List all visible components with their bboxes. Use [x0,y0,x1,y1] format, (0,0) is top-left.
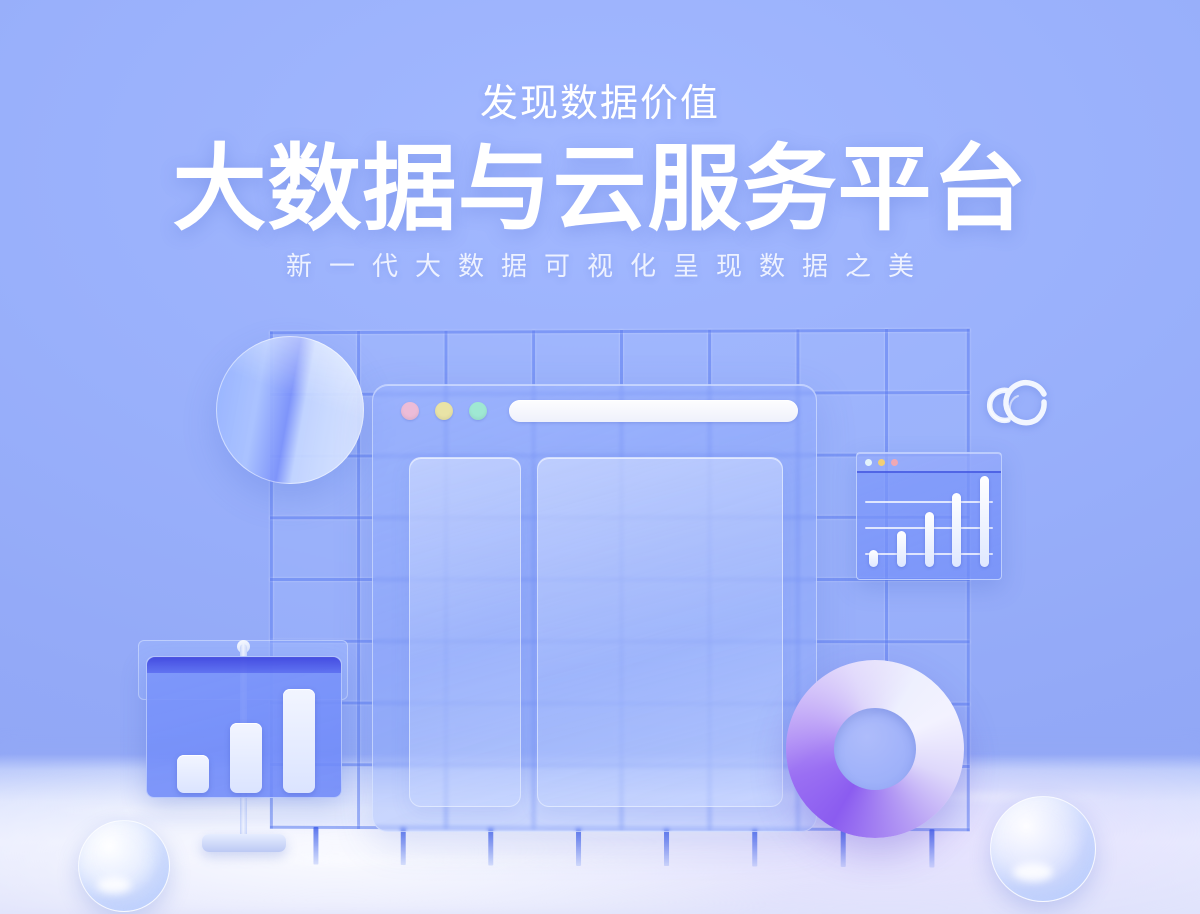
sidebar-panel[interactable] [409,457,521,807]
chart-bar [925,512,934,567]
page-title: 大数据与云服务平台 [0,140,1200,239]
chart-bar [980,476,989,567]
hero-eyebrow: 发现数据价值 [0,84,1200,126]
donut-chart-torus [786,660,964,838]
grid-foot [929,829,934,867]
chart-bars [869,483,989,567]
grid-foot [752,828,757,866]
address-bar-input[interactable] [509,400,798,422]
cloud-icon [978,368,1064,432]
grid-foot [401,827,406,865]
monitor-header-bar [147,657,341,673]
mini-chart-window[interactable] [856,452,1002,580]
glass-sphere-right [990,796,1096,902]
chart-bar [869,550,878,567]
chart-bars [167,683,325,793]
stand-base [202,834,286,852]
monitor-screen [146,656,342,798]
grid-foot [664,828,669,866]
close-dot[interactable] [865,459,872,466]
mini-window-title-bar [857,453,1001,473]
sphere-highlight [97,877,131,893]
chart-bar [177,755,209,793]
hero-banner: 发现数据价值 大数据与云服务平台 新一代大数据可视化呈现数据之美 [0,0,1200,914]
sphere-highlight [1013,863,1053,881]
chart-bar [230,723,262,793]
minimize-dot[interactable] [435,402,453,420]
chart-bar [897,531,906,567]
browser-mockup[interactable] [372,384,817,832]
close-dot[interactable] [401,402,419,420]
maximize-dot[interactable] [469,402,487,420]
grid-foot [841,829,846,867]
glass-sphere-left [78,820,170,912]
mini-bar-chart [865,479,993,571]
hero-tagline: 新一代大数据可视化呈现数据之美 [0,246,1200,283]
grid-foot [576,828,581,866]
chart-bar [283,689,315,793]
hero-copy: 发现数据价值 大数据与云服务平台 新一代大数据可视化呈现数据之美 [0,84,1200,283]
maximize-dot[interactable] [891,459,898,466]
content-panel[interactable] [537,457,783,807]
chart-bar [952,493,961,567]
minimize-dot[interactable] [878,459,885,466]
browser-title-bar [373,385,816,437]
monitor-bar-chart[interactable] [132,636,354,872]
glass-disc [216,336,364,484]
grid-foot [488,828,493,866]
